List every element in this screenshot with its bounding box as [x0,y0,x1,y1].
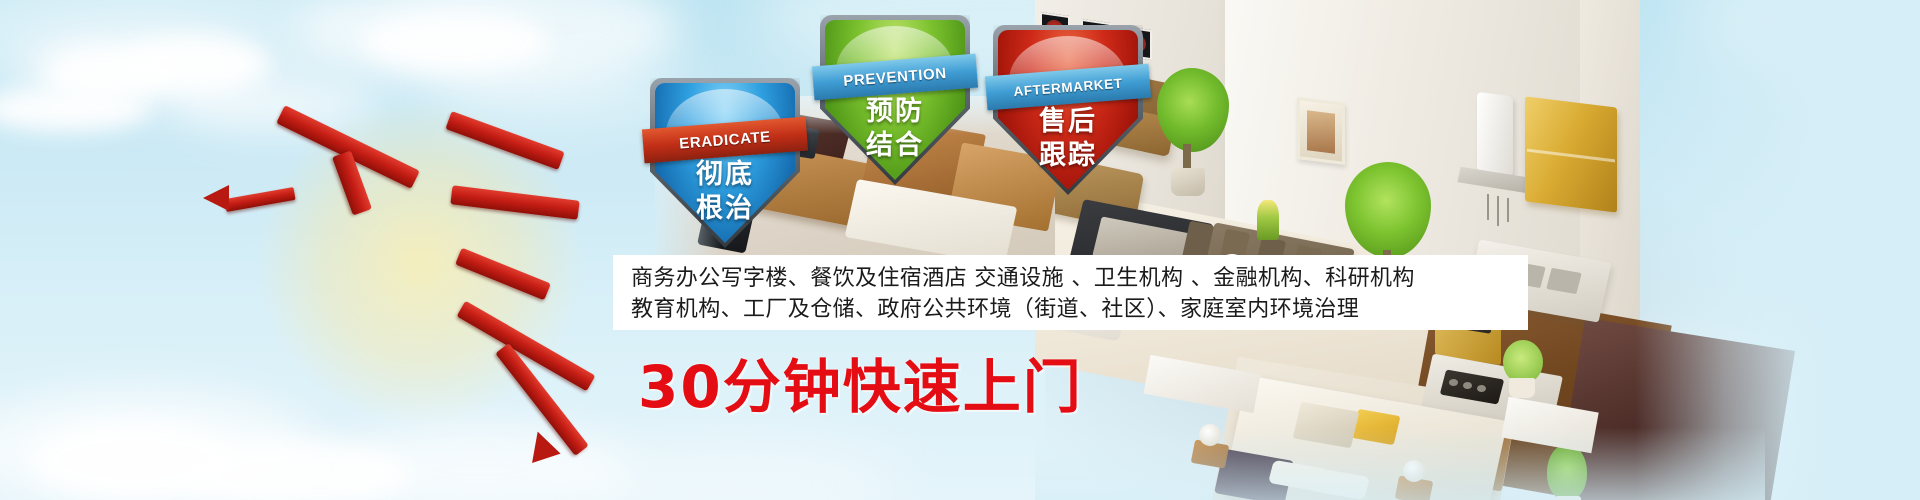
shield-chinese-line-1: 售后 [998,104,1138,138]
shield-chinese-label: 售后 跟踪 [998,104,1138,172]
cloud-shape [0,86,150,132]
shield-chinese-label: 彻底 根治 [655,157,795,225]
shield-aftermarket[interactable]: AFTERMARKET 售后 跟踪 [998,30,1138,190]
service-scope-line-1: 商务办公写字楼、餐饮及住宿酒店 交通设施 、卫生机构 、金融机构、科研机构 [631,263,1510,294]
ribbon-arrow-left [203,185,229,211]
shield-english-label: AFTERMARKET [1013,75,1123,99]
shield-chinese-line-1: 彻底 [655,157,795,191]
shield-eradicate[interactable]: ERADICATE 彻底 根治 [655,83,795,243]
shield-chinese-line-2: 根治 [655,191,795,225]
shield-english-label: PREVENTION [843,64,948,89]
promo-banner: 3 ERADICATE 彻底 根治 [0,0,1920,500]
shield-english-label: ERADICATE [679,128,772,152]
service-scope-panel: 商务办公写字楼、餐饮及住宿酒店 交通设施 、卫生机构 、金融机构、科研机构 教育… [613,255,1528,330]
shield-prevention[interactable]: PREVENTION 预防 结合 [825,20,965,180]
shield-chinese-line-1: 预防 [825,94,965,128]
shield-chinese-label: 预防 结合 [825,94,965,162]
shield-chinese-line-2: 跟踪 [998,138,1138,172]
headline-text: 30分钟快速上门 [638,355,1083,419]
service-scope-line-2: 教育机构、工厂及仓储、政府公共环境（街道、社区）、家庭室内环境治理 [631,294,1510,325]
shield-chinese-line-2: 结合 [825,128,965,162]
shield-group: ERADICATE 彻底 根治 PREVENTION 预防 结合 [520,8,1180,228]
